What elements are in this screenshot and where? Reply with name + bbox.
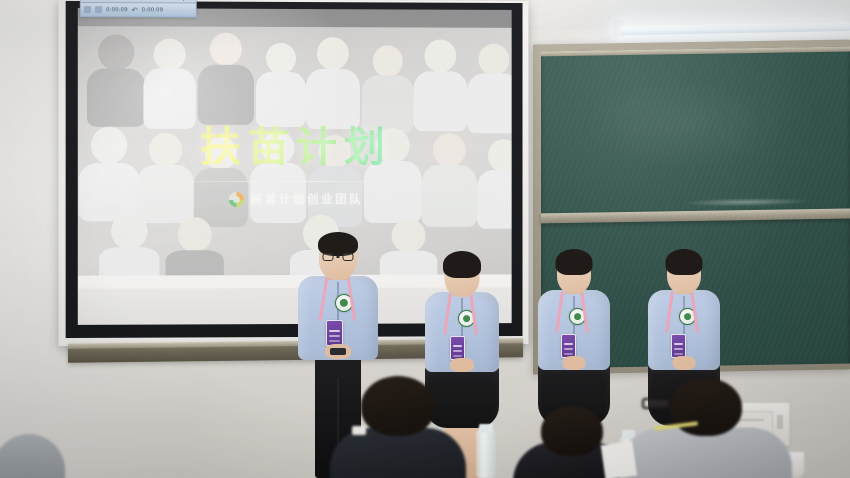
presentation-clicker[interactable] — [330, 348, 346, 355]
presentation-annotation-toolbar[interactable]: 0:00:09 ↶ 0:00:09 — [80, 2, 197, 18]
id-badge — [326, 320, 343, 346]
chalk-smudge — [581, 77, 791, 170]
timer-right: 0:00:09 — [142, 7, 164, 13]
id-badge — [671, 334, 686, 358]
photo-child — [413, 35, 469, 131]
photo-child — [165, 217, 225, 276]
eyeglasses-icon — [642, 398, 670, 409]
photo-child — [255, 41, 307, 127]
timer-left: 0:00:09 — [106, 7, 128, 13]
slide-divider-rule — [148, 181, 442, 182]
presenter-hair — [666, 249, 703, 275]
photo-child — [136, 131, 194, 223]
photo-child — [466, 44, 512, 134]
water-bottle-center — [476, 430, 496, 478]
audience-left — [328, 372, 468, 478]
photo-child — [86, 30, 147, 127]
photo-child — [305, 33, 361, 129]
presenter-hands — [563, 356, 586, 370]
photo-child — [476, 139, 512, 229]
presenter-hair — [556, 249, 593, 275]
presenter-hands — [673, 356, 696, 370]
shirt-collar — [352, 426, 366, 435]
audience-head — [361, 376, 435, 436]
photo-child — [197, 27, 255, 125]
audience-head — [541, 406, 603, 456]
audience-right — [618, 376, 793, 478]
eraser-icon[interactable] — [95, 6, 102, 13]
presenter-hair — [443, 251, 481, 278]
undo-icon[interactable]: ↶ — [132, 6, 138, 14]
bottle-cap-center — [479, 424, 493, 433]
presenter-hands — [450, 358, 474, 372]
classroom-scene: 扶苗计划 扶苗计划创业团队 ▼ ✕ 0:00:09 ↶ 0:00:09 — [0, 0, 850, 478]
id-badge — [450, 336, 465, 360]
chalkboard-center-rail — [541, 209, 850, 224]
audience-shoulder — [0, 434, 65, 478]
photo-child — [98, 211, 161, 275]
chalk-dust — [681, 197, 811, 207]
chalkboard-top-edge — [541, 47, 850, 57]
photo-child — [361, 45, 415, 133]
photo-child — [142, 36, 196, 128]
pen-icon[interactable] — [84, 6, 91, 13]
handout-paper — [601, 441, 638, 478]
id-badge — [561, 334, 576, 358]
photo-child — [78, 123, 141, 222]
photo-child — [249, 127, 307, 223]
eyeglasses-icon — [323, 253, 354, 261]
photo-child — [421, 131, 478, 227]
photo-child — [363, 123, 423, 223]
audience-far-left — [0, 424, 64, 478]
